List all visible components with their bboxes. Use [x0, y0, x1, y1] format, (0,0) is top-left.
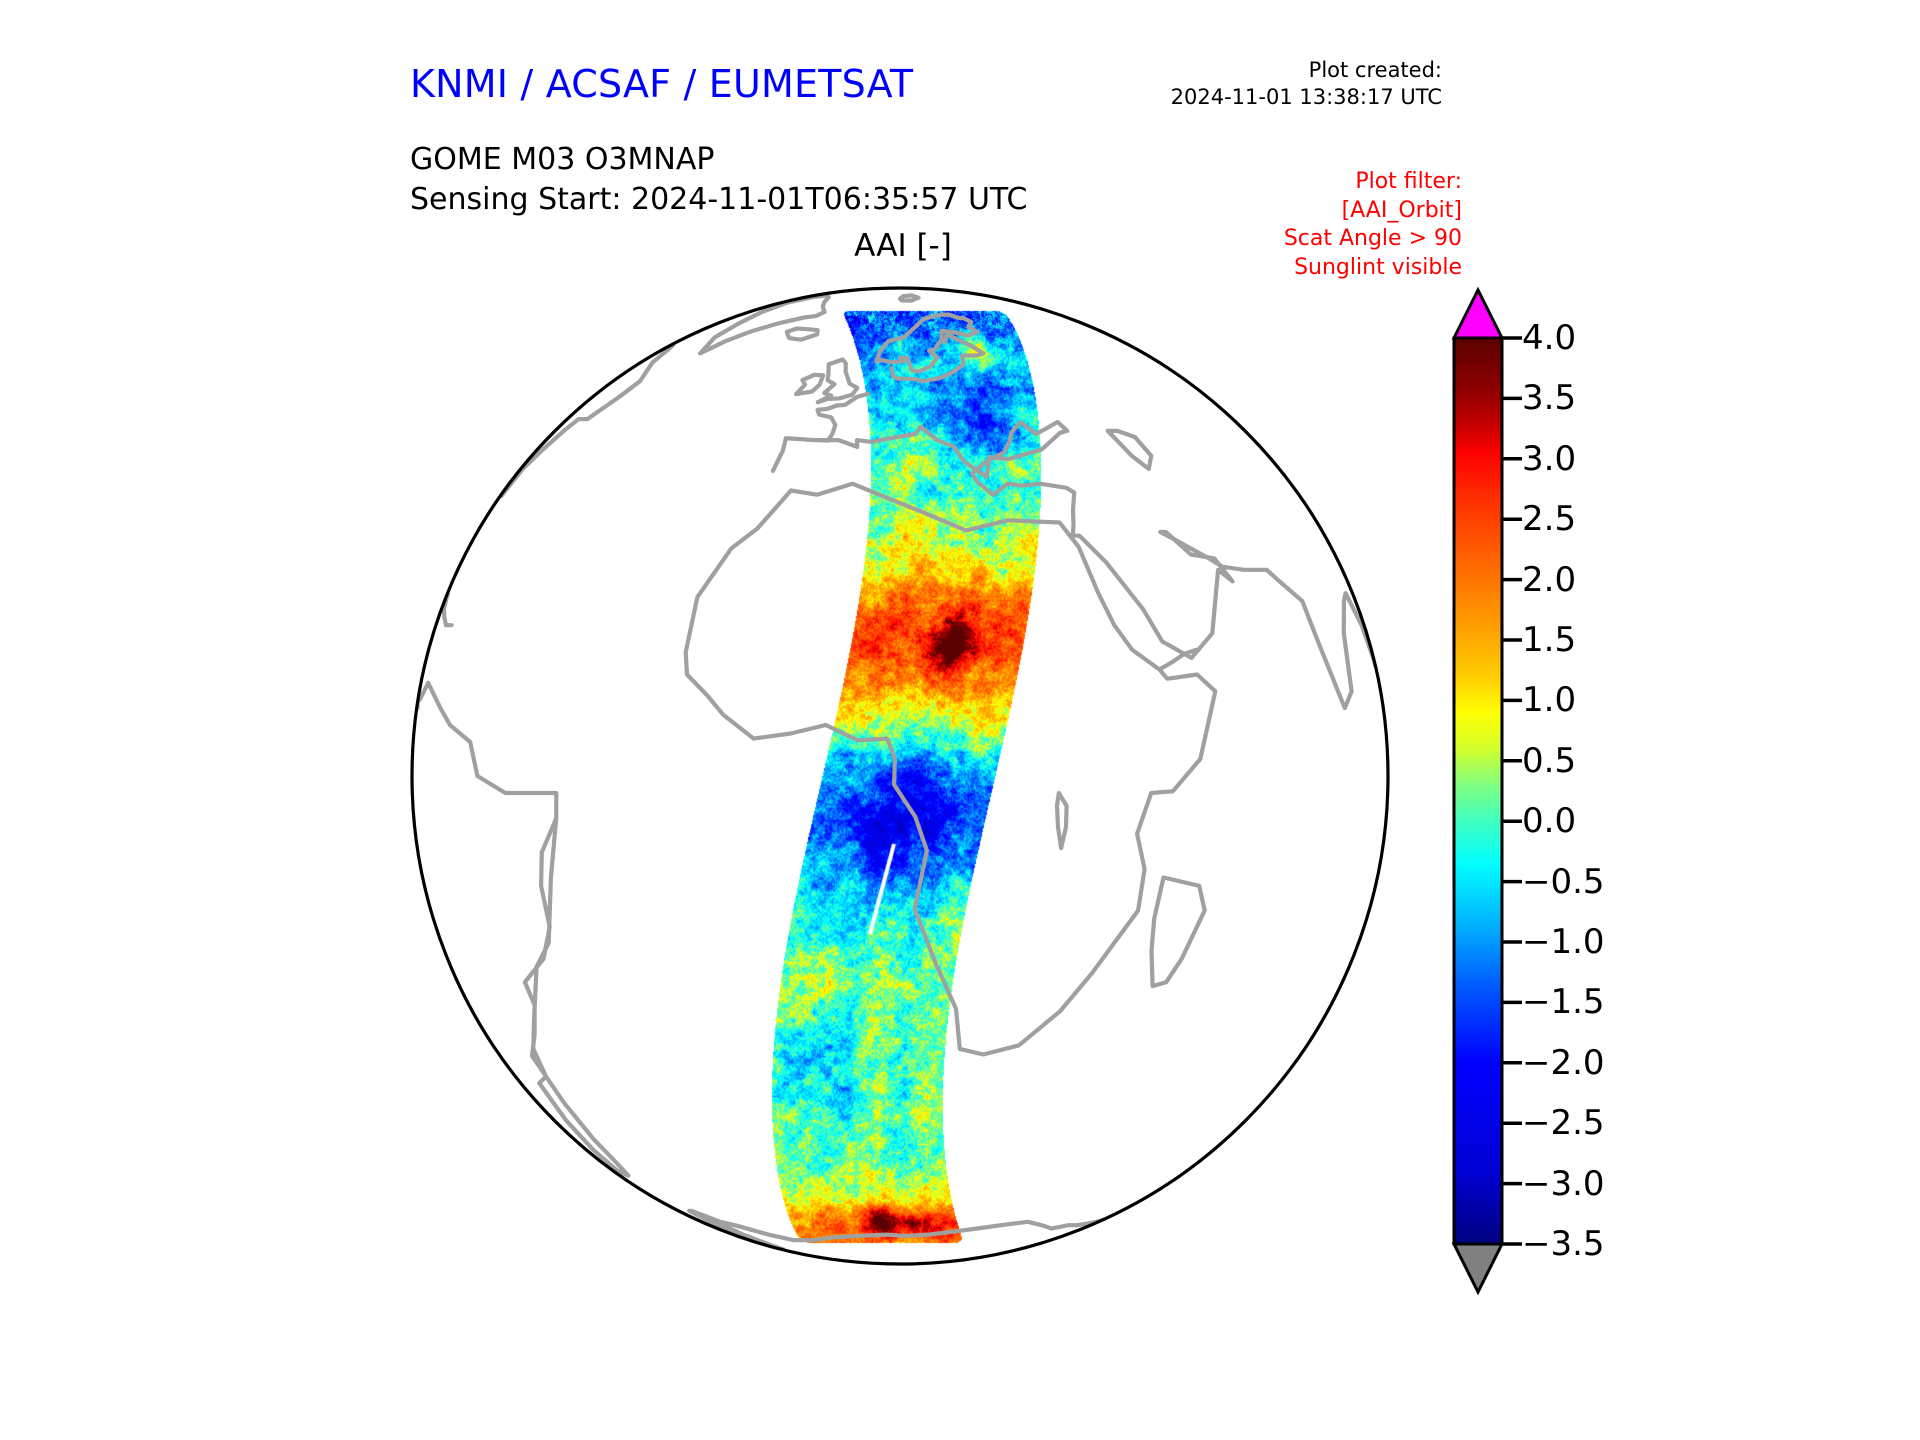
colorbar-tick-label: −1.5 [1522, 982, 1605, 1022]
colorbar-tick-label: −2.5 [1522, 1103, 1605, 1143]
dataset-name: GOME M03 O3MNAP [410, 140, 1027, 180]
colorbar [1448, 286, 1508, 1296]
plot-created-timestamp: 2024-11-01 13:38:17 UTC [1082, 84, 1442, 111]
colorbar-tick-label: 0.0 [1522, 801, 1576, 841]
colorbar-tick-label: 3.0 [1522, 439, 1576, 479]
map-title: AAI [-] [408, 228, 1398, 264]
institutes-title: KNMI / ACSAF / EUMETSAT [410, 62, 913, 106]
globe-vector-layer [408, 284, 1392, 1268]
colorbar-tick-label: −1.0 [1522, 922, 1605, 962]
dataset-info-block: GOME M03 O3MNAP Sensing Start: 2024-11-0… [410, 140, 1027, 220]
colorbar-tick-label: 2.5 [1522, 499, 1576, 539]
colorbar-tick-label: 0.5 [1522, 741, 1576, 781]
colorbar-gradient [1448, 286, 1508, 1296]
colorbar-tick-label: 2.0 [1522, 560, 1576, 600]
colorbar-tick-label: 3.5 [1522, 378, 1576, 418]
plot-created-block: Plot created: 2024-11-01 13:38:17 UTC [1082, 57, 1442, 111]
globe-map-panel [408, 284, 1392, 1268]
colorbar-tick-label: 1.0 [1522, 680, 1576, 720]
colorbar-tick-label: −0.5 [1522, 862, 1605, 902]
plot-filter-name: [AAI_Orbit] [1122, 197, 1462, 226]
plot-filter-block: Plot filter: [AAI_Orbit] Scat Angle > 90… [1122, 168, 1462, 282]
colorbar-tick-label: −2.0 [1522, 1043, 1605, 1083]
colorbar-tick-label: 1.5 [1522, 620, 1576, 660]
colorbar-tick-label: −3.5 [1522, 1224, 1605, 1264]
colorbar-tick-label: 4.0 [1522, 318, 1576, 358]
colorbar-under-arrow [1454, 1244, 1502, 1292]
plot-created-label: Plot created: [1082, 57, 1442, 84]
colorbar-over-arrow [1454, 290, 1502, 338]
colorbar-tick-label: −3.0 [1522, 1164, 1605, 1204]
coastlines [417, 295, 1375, 1249]
colorbar-body [1454, 338, 1502, 1244]
sensing-start: Sensing Start: 2024-11-01T06:35:57 UTC [410, 180, 1027, 220]
colorbar-tick-labels: 4.03.53.02.52.01.51.00.50.0−0.5−1.0−1.5−… [1522, 286, 1662, 1296]
plot-filter-label: Plot filter: [1122, 168, 1462, 197]
